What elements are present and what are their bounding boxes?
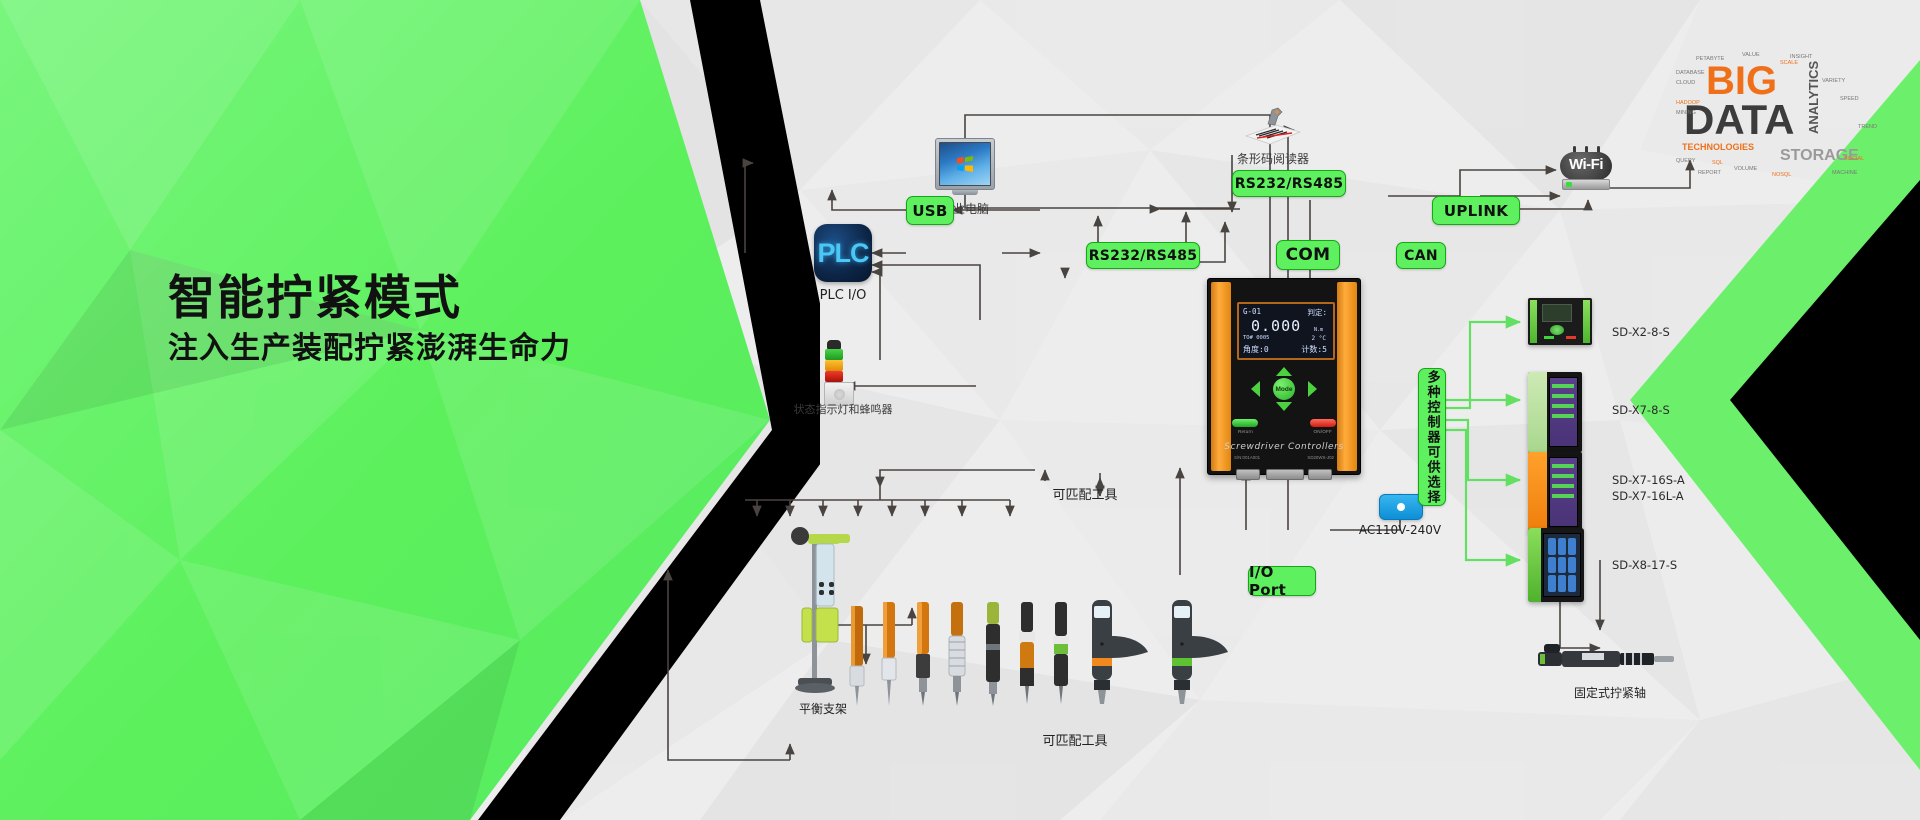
big-data-cloud: BIG DATA STORAGE ANALYTICS TECHNOLOGIES … (1672, 42, 1882, 192)
model-label-sd-x7-8-s: SD-X7-8-S (1612, 403, 1670, 419)
left-green-chevron (0, 0, 820, 820)
lcd-program-id: G-01 (1243, 307, 1261, 316)
port-label-usb[interactable]: USB (906, 196, 954, 225)
return-button-label: Return (1238, 429, 1253, 434)
power-supply-caption: AC110V-240V (1340, 523, 1460, 537)
svg-text:VARIETY: VARIETY (1822, 78, 1845, 84)
svg-text:REPORT: REPORT (1698, 170, 1721, 176)
controller-port-left[interactable] (1236, 469, 1260, 480)
svg-text:TECHNOLOGIES: TECHNOLOGIES (1682, 142, 1754, 152)
controller-sn-left: S/N:001A001 (1234, 455, 1260, 460)
pistol-screwdriver-icon (1078, 596, 1150, 706)
lcd-count: 计数:5 (1301, 344, 1327, 355)
screwdriver-icon (1010, 598, 1044, 708)
lcd-temp: 2 °C (1312, 335, 1326, 342)
tools-label-top: 可匹配工具 (1020, 484, 1150, 503)
lcd-unit: N.m (1314, 327, 1323, 333)
screwdriver-icon (976, 598, 1010, 708)
port-label-com[interactable]: COM (1276, 240, 1340, 270)
headline-block: 智能拧紧模式 注入生产装配拧紧澎湃生命力 (168, 274, 571, 365)
port-label-io[interactable]: I/O Port (1248, 566, 1316, 596)
lcd-program-no: TO# 0005 (1243, 335, 1270, 341)
balance-arm-caption: 平衡支架 (768, 700, 878, 717)
svg-text:MINING: MINING (1676, 110, 1696, 116)
spindle-icon (1530, 638, 1680, 678)
wifi-router-icon: Wi-Fi (1556, 146, 1616, 192)
controller-model-sd-x2-8-s[interactable] (1528, 298, 1592, 345)
page-subtitle: 注入生产装配拧紧澎湃生命力 (168, 334, 571, 365)
svg-text:SOCIAL: SOCIAL (1844, 156, 1864, 162)
port-label-can[interactable]: CAN (1396, 242, 1446, 269)
barcode-reader[interactable] (1242, 106, 1304, 153)
controller-brand: Screwdriver Controllers (1208, 442, 1360, 452)
stack-light[interactable] (824, 340, 844, 406)
tool-item[interactable] (906, 598, 940, 713)
port-label-rs232-right[interactable]: RS232/RS485 (1232, 170, 1346, 197)
industrial-pc[interactable] (935, 138, 995, 195)
port-label-rs232-left[interactable]: RS232/RS485 (1086, 242, 1200, 269)
bigdata-word-analytics: ANALYTICS (1806, 60, 1821, 134)
onoff-button-label: ON/OFF (1313, 429, 1332, 434)
monitor-icon (935, 138, 995, 190)
fixed-spindle-caption: 固定式拧紧轴 (1540, 684, 1680, 701)
model-label-sd-x8-17-s: SD-X8-17-S (1612, 558, 1677, 574)
tool-item[interactable] (976, 598, 1010, 713)
screwdriver-icon (1044, 598, 1078, 708)
controller-lcd: G-01 判定: 0.000 N.m 2 °C TO# 0005 角度:0 计数… (1237, 302, 1335, 360)
power-supply-icon (1379, 494, 1423, 520)
svg-text:TREND: TREND (1858, 124, 1877, 130)
svg-text:SPEED: SPEED (1840, 96, 1859, 102)
barcode-reader-caption: 条形码阅读器 (1208, 150, 1338, 167)
windows-logo-icon (956, 156, 974, 172)
page-title: 智能拧紧模式 (168, 274, 571, 322)
controller-model-sd-x7-16-a[interactable] (1528, 452, 1582, 532)
controller-body: G-01 判定: 0.000 N.m 2 °C TO# 0005 角度:0 计数… (1207, 278, 1361, 475)
svg-text:NOSQL: NOSQL (1772, 172, 1791, 178)
return-button[interactable] (1232, 419, 1258, 427)
model-label-sd-x7-16-a: SD-X7-16S-A SD-X7-16L-A (1612, 473, 1685, 504)
banner-stage: 智能拧紧模式 注入生产装配拧紧澎湃生命力 (0, 0, 1920, 820)
lcd-angle: 角度:0 (1243, 344, 1269, 355)
pistol-screwdriver-icon (1158, 596, 1230, 706)
plc-icon-label: PLC (818, 238, 869, 269)
tool-item[interactable] (874, 600, 904, 713)
svg-text:HADOOP: HADOOP (1676, 100, 1700, 106)
stack-light-icon (824, 340, 844, 406)
onoff-button[interactable] (1310, 419, 1336, 427)
balance-arm-icon (772, 520, 862, 696)
svg-text:SQL: SQL (1712, 160, 1723, 166)
bigdata-word-data: DATA (1684, 96, 1794, 143)
svg-text:VOLUME: VOLUME (1734, 166, 1758, 172)
controller-keypad[interactable]: Mode (1251, 367, 1317, 411)
lcd-torque-value: 0.000 (1251, 317, 1301, 335)
tools-label-bottom: 可匹配工具 (1010, 730, 1140, 749)
svg-text:CLOUD: CLOUD (1676, 80, 1695, 86)
sd-x7-8-s-icon (1528, 372, 1582, 452)
svg-text:MACHINE: MACHINE (1832, 170, 1858, 176)
fixed-spindle[interactable] (1530, 638, 1680, 683)
tool-item[interactable] (1044, 598, 1078, 713)
power-supply[interactable] (1379, 494, 1423, 520)
svg-text:VALUE: VALUE (1742, 52, 1760, 58)
controller-model-sd-x8-17-s[interactable] (1528, 528, 1584, 602)
tool-item-pistol[interactable] (1078, 596, 1150, 711)
lcd-judgement-label: 判定: (1307, 307, 1327, 318)
model-line: SD-X7-16L-A (1612, 489, 1685, 505)
plc-icon: PLC (814, 224, 872, 282)
port-label-uplink[interactable]: UPLINK (1432, 196, 1520, 225)
plc-caption: PLC I/O (793, 288, 893, 303)
model-line: SD-X7-16S-A (1612, 473, 1685, 489)
tool-item[interactable] (940, 598, 974, 713)
model-line: SD-X8-17-S (1612, 558, 1677, 572)
controller-options-label[interactable]: 多种控制器可供选择 (1418, 368, 1446, 506)
model-label-sd-x2-8-s: SD-X2-8-S (1612, 325, 1670, 341)
sd-x8-17-s-icon (1528, 528, 1584, 602)
sd-x2-8-s-icon (1528, 298, 1592, 345)
monitor-stand-icon (952, 190, 978, 195)
svg-text:SCALE: SCALE (1780, 60, 1798, 66)
model-line: SD-X7-8-S (1612, 403, 1670, 417)
controller-port-right[interactable] (1308, 469, 1332, 480)
svg-text:QUERY: QUERY (1676, 158, 1696, 164)
screwdriver-icon (874, 600, 904, 708)
svg-text:PETABYTE: PETABYTE (1696, 56, 1725, 62)
balance-arm[interactable] (772, 520, 862, 701)
word-cloud-icon: BIG DATA STORAGE ANALYTICS TECHNOLOGIES … (1672, 42, 1882, 192)
wifi-label: Wi-Fi (1556, 156, 1616, 173)
barcode-scanner-icon (1242, 106, 1304, 148)
main-controller[interactable]: G-01 判定: 0.000 N.m 2 °C TO# 0005 角度:0 计数… (1207, 278, 1361, 475)
controller-port-center[interactable] (1266, 469, 1304, 480)
model-line: SD-X2-8-S (1612, 325, 1670, 339)
mode-key[interactable]: Mode (1273, 378, 1295, 400)
wifi-router[interactable]: Wi-Fi (1556, 146, 1616, 192)
controller-sn-right: SD20WS-J02 (1307, 455, 1334, 460)
stack-light-caption: 状态指示灯和蜂鸣器 (768, 401, 918, 417)
tool-item-pistol[interactable] (1158, 596, 1230, 711)
tool-item[interactable] (1010, 598, 1044, 713)
screwdriver-icon (906, 598, 940, 708)
plc-module[interactable]: PLC (814, 224, 872, 282)
controller-model-sd-x7-8-s[interactable] (1528, 372, 1582, 452)
svg-text:INSIGHT: INSIGHT (1790, 54, 1813, 60)
sd-x7-16-a-icon (1528, 452, 1582, 532)
svg-text:DATABASE: DATABASE (1676, 70, 1705, 76)
screwdriver-icon (940, 598, 974, 708)
